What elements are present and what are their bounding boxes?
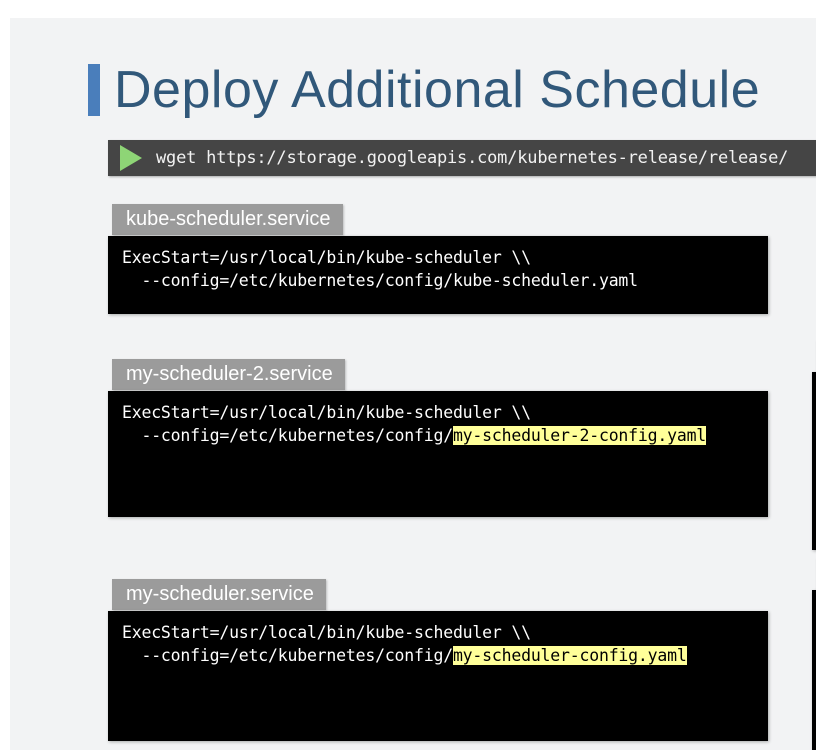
config-filename-highlight: my-scheduler-2-config.yaml: [453, 426, 706, 445]
code-line-prefix: --config=/etc/kubernetes/config/: [122, 646, 453, 665]
service-code-fragment: [812, 372, 816, 550]
config-filename-highlight: my-scheduler-config.yaml: [453, 646, 687, 665]
service-label: my-scheduler-2.service: [112, 359, 345, 390]
code-line: --config=/etc/kubernetes/config/my-sched…: [122, 424, 768, 447]
page-title: Deploy Additional Schedule: [88, 64, 760, 116]
code-line: --config=/etc/kubernetes/config/my-sched…: [122, 644, 768, 667]
service-label: my-scheduler.service: [112, 579, 326, 610]
terminal-command-text: wget https://storage.googleapis.com/kube…: [156, 148, 788, 168]
service-code-block: ExecStart=/usr/local/bin/kube-scheduler …: [108, 391, 768, 517]
service-code-block: ExecStart=/usr/local/bin/kube-scheduler …: [108, 611, 768, 741]
service-code-block: ExecStart=/usr/local/bin/kube-scheduler …: [108, 236, 768, 314]
service-code-fragment: [812, 590, 816, 750]
terminal-command-bar[interactable]: wget https://storage.googleapis.com/kube…: [108, 140, 816, 176]
code-line: ExecStart=/usr/local/bin/kube-scheduler …: [122, 246, 768, 269]
code-line: ExecStart=/usr/local/bin/kube-scheduler …: [122, 621, 768, 644]
title-text: Deploy Additional Schedule: [114, 64, 760, 116]
play-triangle-icon[interactable]: [120, 145, 142, 171]
code-line: ExecStart=/usr/local/bin/kube-scheduler …: [122, 401, 768, 424]
code-line-prefix: --config=/etc/kubernetes/config/kube-sch…: [122, 271, 638, 290]
code-line: --config=/etc/kubernetes/config/kube-sch…: [122, 269, 768, 292]
code-line-prefix: --config=/etc/kubernetes/config/: [122, 426, 453, 445]
service-label: kube-scheduler.service: [112, 204, 343, 235]
slide-canvas: Deploy Additional Schedule wget https://…: [10, 18, 816, 750]
title-accent-bar: [88, 64, 100, 116]
